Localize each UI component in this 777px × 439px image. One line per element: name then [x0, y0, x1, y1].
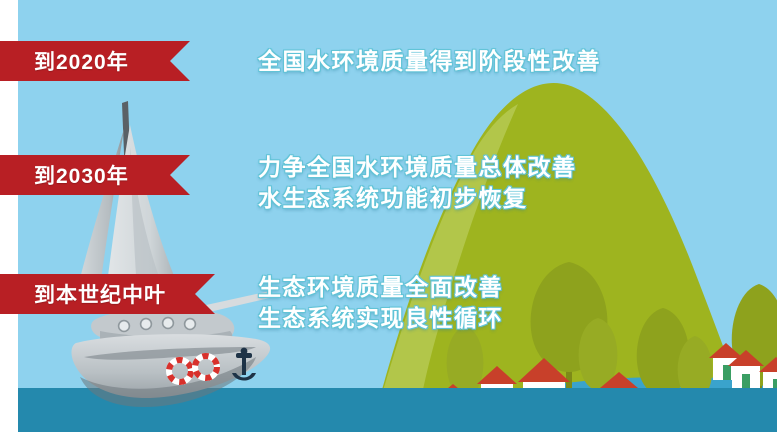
infographic-poster: 到2020年 到2030年 到本世纪中叶 全国水环境质量得到阶段性改善 力争全国… — [0, 0, 777, 439]
milestone-text-line: 力争全国水环境质量总体改善 — [258, 152, 577, 183]
milestone-text-line: 生态系统实现良性循环 — [258, 303, 503, 334]
milestone-banner-midcentury: 到本世纪中叶 — [0, 274, 215, 314]
milestone-banner-label: 到2030年 — [34, 160, 129, 190]
milestone-text-line: 生态环境质量全面改善 — [258, 272, 503, 303]
sailboat-illustration — [60, 95, 320, 435]
milestone-banner-2020: 到2020年 — [0, 41, 190, 81]
milestone-text-line: 全国水环境质量得到阶段性改善 — [258, 46, 601, 77]
milestone-text-2020: 全国水环境质量得到阶段性改善 — [258, 46, 601, 77]
milestone-banner-2030: 到2030年 — [0, 155, 190, 195]
milestone-text-midcentury: 生态环境质量全面改善 生态系统实现良性循环 — [258, 272, 503, 334]
milestone-text-2030: 力争全国水环境质量总体改善 水生态系统功能初步恢复 — [258, 152, 577, 214]
bottom-margin — [0, 432, 777, 439]
milestone-banner-label: 到本世纪中叶 — [34, 279, 166, 309]
milestone-banner-label: 到2020年 — [34, 46, 129, 76]
milestone-text-line: 水生态系统功能初步恢复 — [258, 183, 577, 214]
